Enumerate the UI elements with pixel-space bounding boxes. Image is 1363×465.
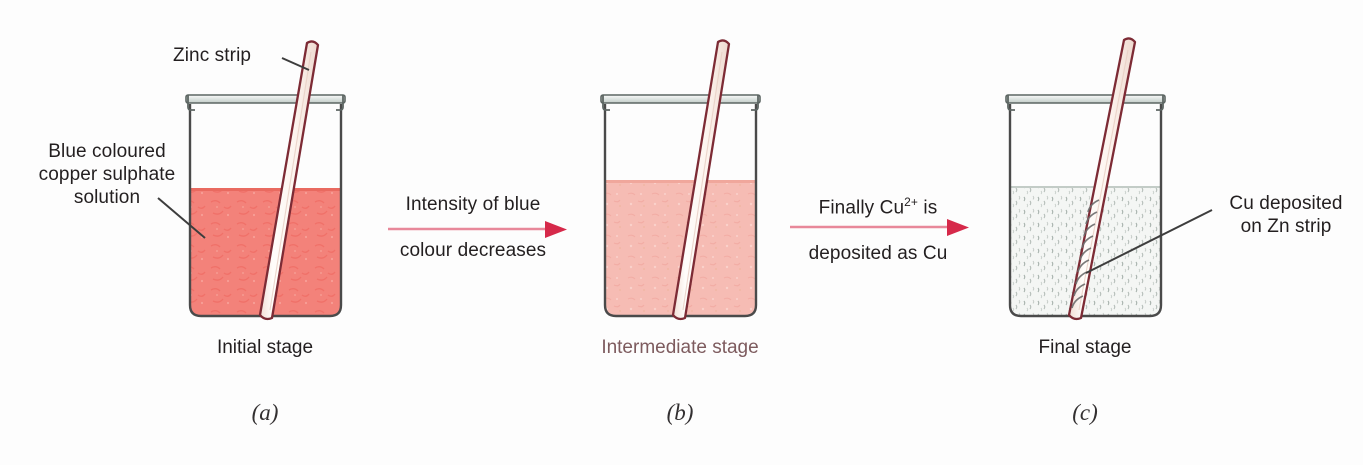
arrow-2-line-1: Finally Cu	[819, 197, 904, 218]
arrow-1-line-2: colour decreases	[400, 240, 546, 261]
figure-caption-c: (c)	[985, 400, 1185, 426]
stage-label-initial: Initial stage	[115, 337, 415, 359]
arrow-2-superscript: 2+	[904, 195, 918, 209]
figure-caption-a: (a)	[165, 400, 365, 426]
callout-zinc-strip: Zinc strip	[173, 44, 251, 67]
beaker-a-rim	[186, 95, 345, 110]
beaker-c	[1006, 38, 1212, 320]
arrow-1-label: Intensity of blue colour decreases	[378, 170, 568, 262]
figure-caption-b: (b)	[580, 400, 780, 426]
callout-cu-deposited-on-zn-strip: Cu deposited on Zn strip	[1216, 192, 1356, 238]
stage-label-final: Final stage	[935, 337, 1235, 359]
callout-copper-sulphate-solution: Blue coloured copper sulphate solution	[22, 140, 192, 209]
stage-label-intermediate: Intermediate stage	[530, 337, 830, 359]
arrow-2-line-2: deposited as Cu	[809, 243, 948, 264]
beaker-b-rim	[601, 95, 760, 110]
figure-canvas: Zinc strip Blue coloured copper sulphate…	[0, 0, 1363, 465]
beaker-b	[601, 40, 760, 320]
arrow-2-label: Finally Cu2+ is deposited as Cu	[783, 168, 973, 265]
arrow-1-line-1: Intensity of blue	[406, 194, 541, 215]
arrow-2-line-1-tail: is	[918, 197, 937, 218]
diagram-vector-layer	[0, 0, 1363, 465]
beaker-c-rim	[1006, 95, 1165, 110]
